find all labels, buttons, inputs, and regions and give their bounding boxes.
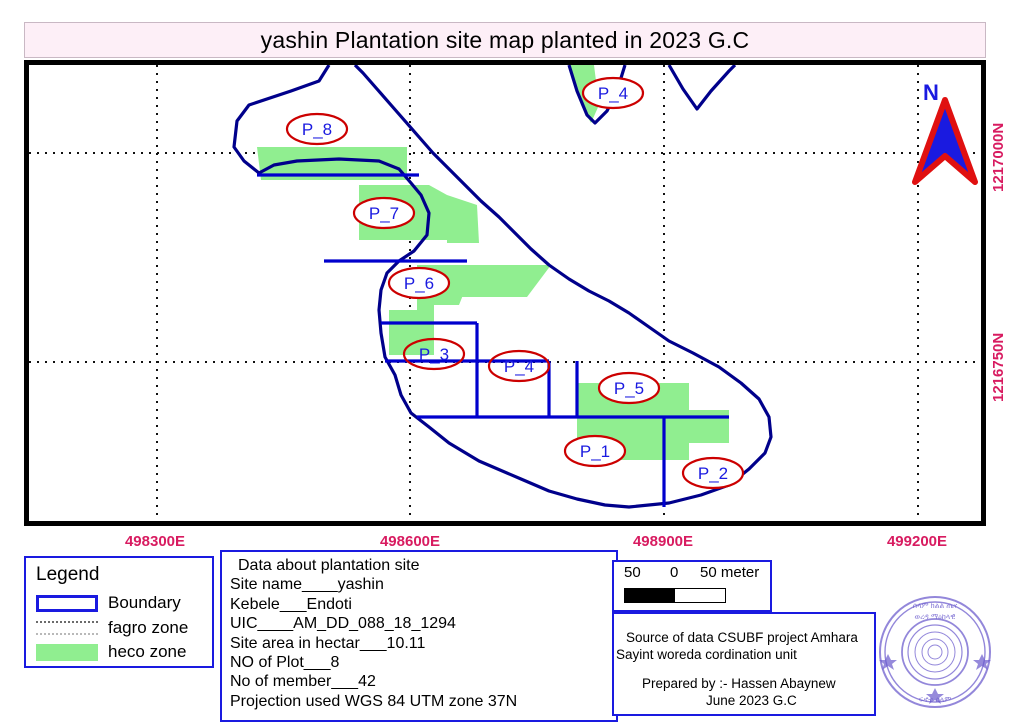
heco-swatch-icon	[36, 644, 98, 661]
scale-right-value: 50 meter	[700, 564, 759, 581]
scale-left-value: 50	[624, 564, 641, 581]
official-stamp-icon: ሰላም ክልል ጤና ወረዳ ማዕከላዊ ፍኖተ ሰላም	[876, 592, 994, 712]
plot-label-text: P_5	[614, 379, 644, 398]
plot-label-text: P_2	[698, 464, 728, 483]
page-title: yashin Plantation site map planted in 20…	[261, 27, 750, 54]
legend-item-boundary: Boundary	[36, 592, 181, 614]
plot-label-text: P_4	[504, 357, 534, 376]
scale-center-value: 0	[670, 564, 678, 581]
north-letter: N	[923, 80, 939, 106]
y-axis-label: 1216750N	[990, 333, 1007, 402]
plantation-data-panel: Data about plantation site Site name____…	[220, 550, 618, 722]
data-panel-row: UIC____AM_DD_088_18_1294	[230, 614, 616, 633]
scale-bar-graphic	[624, 588, 726, 603]
plot-label-text: P_1	[580, 442, 610, 461]
data-panel-row: Projection used WGS 84 UTM zone 37N	[230, 692, 616, 711]
data-panel-row: Site area in hectar___10.11	[230, 634, 616, 653]
legend-item-label: fagro zone	[108, 618, 188, 638]
north-arrow: N	[905, 82, 985, 187]
svg-text:ወረዳ ማዕከላዊ: ወረዳ ማዕከላዊ	[915, 612, 957, 621]
plot-label-p4-upper[interactable]: P_4	[583, 78, 643, 108]
legend-item-fagro: fagro zone	[36, 617, 188, 639]
x-axis-label: 498600E	[380, 533, 440, 550]
plot-label-p8[interactable]: P_8	[287, 114, 347, 144]
boundary-swatch-icon	[36, 595, 98, 612]
x-axis-label: 498900E	[633, 533, 693, 550]
map-frame[interactable]: P_8 P_7 P_6 P_3 P_4 P_5	[24, 60, 986, 526]
source-line-1: Source of data CSUBF project Amhara	[626, 630, 858, 645]
plot-label-text: P_4	[598, 84, 628, 103]
data-panel-row: Site name____yashin	[230, 575, 616, 594]
data-panel-row: NO of Plot___8	[230, 653, 616, 672]
plot-label-text: P_3	[419, 345, 449, 364]
scale-bar-panel: 50 0 50 meter	[612, 560, 772, 612]
legend-item-label: heco zone	[108, 642, 186, 662]
x-axis-label: 499200E	[887, 533, 947, 550]
source-credits-panel: Source of data CSUBF project Amhara Sayi…	[612, 612, 876, 716]
plot-label-p6[interactable]: P_6	[389, 268, 449, 298]
scale-bar-white-segment	[675, 589, 725, 602]
y-axis-label: 1217000N	[990, 123, 1007, 192]
prepared-by-line: Prepared by :- Hassen Abaynew	[642, 676, 836, 691]
official-stamp: ሰላም ክልል ጤና ወረዳ ማዕከላዊ ፍኖተ ሰላም	[876, 592, 994, 712]
plot-label-p5[interactable]: P_5	[599, 373, 659, 403]
data-panel-heading: Data about plantation site	[230, 556, 616, 575]
source-line-2: Sayint woreda cordination unit	[616, 647, 797, 662]
plot-label-p7[interactable]: P_7	[354, 198, 414, 228]
fagro-swatch-icon	[36, 621, 98, 635]
x-axis-label: 498300E	[125, 533, 185, 550]
plot-label-text: P_8	[302, 120, 332, 139]
plot-label-p1[interactable]: P_1	[565, 436, 625, 466]
svg-text:ሰላም ክልል ጤና: ሰላም ክልል ጤና	[913, 601, 958, 610]
plot-label-text: P_7	[369, 204, 399, 223]
data-panel-row: Kebele___Endoti	[230, 595, 616, 614]
legend-title: Legend	[36, 564, 99, 586]
legend-panel: Legend Boundary fagro zone heco zone	[24, 556, 214, 668]
plot-label-p2[interactable]: P_2	[683, 458, 743, 488]
plot-label-text: P_6	[404, 274, 434, 293]
plot-label-p4-lower[interactable]: P_4	[489, 351, 549, 381]
data-panel-row: No of member___42	[230, 672, 616, 691]
map-title-bar: yashin Plantation site map planted in 20…	[24, 22, 986, 58]
scale-bar-black-segment	[625, 589, 675, 602]
prepared-date-line: June 2023 G.C	[706, 693, 797, 708]
north-arrow-icon	[905, 82, 985, 187]
legend-item-heco: heco zone	[36, 641, 186, 663]
map-canvas[interactable]: P_8 P_7 P_6 P_3 P_4 P_5	[29, 65, 981, 521]
legend-item-label: Boundary	[108, 593, 181, 613]
